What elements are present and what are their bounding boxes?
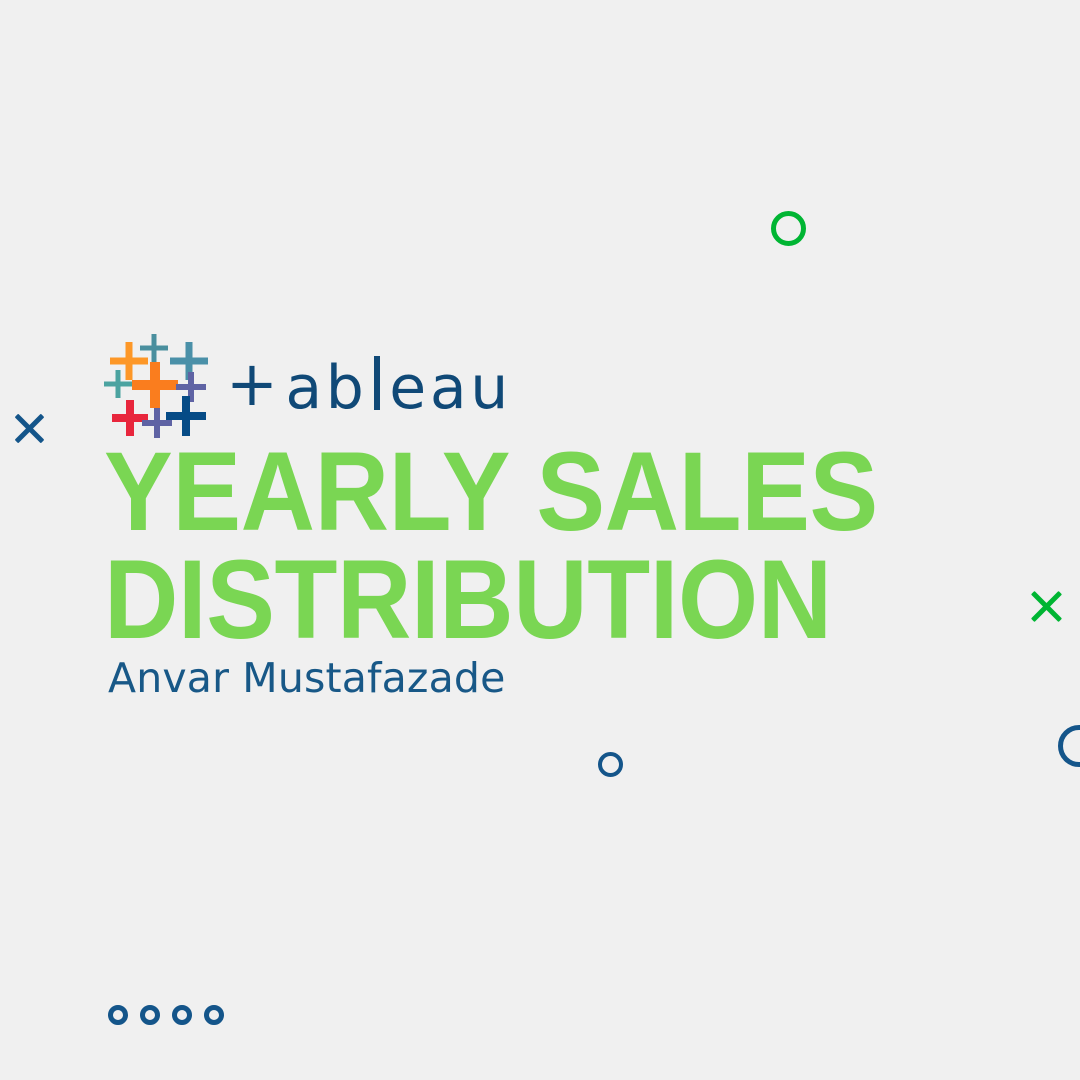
circle-outline-icon-green-top-right [771,211,806,246]
cross-teal-small-left-icon [104,370,132,398]
author-name: Anvar Mustafazade [108,658,505,699]
wordmark-letter-b: b [326,358,368,418]
cross-stroke-horizontal [142,420,172,426]
dot-row-bottom-left [108,1005,224,1025]
cross-stroke-horizontal [176,384,206,390]
circle-outline-icon-dot-1 [108,1005,128,1025]
cross-stroke-horizontal [166,412,206,420]
wordmark-plus-glyph: + [226,353,282,415]
tableau-logo-mark [104,334,208,438]
page-title-line-2: DISTRIBUTION [104,546,932,654]
circle-outline-icon-navy-center [598,752,623,777]
title-slide: +abeau YEARLY SALES DISTRIBUTION Anvar M… [0,0,1080,1080]
tableau-logo: +abeau [104,334,512,438]
page-title: YEARLY SALES DISTRIBUTION [104,438,1004,653]
circle-outline-icon-navy-right-edge [1058,725,1080,767]
wordmark-letter-u: u [470,358,512,418]
wordmark-letter-a2: a [430,358,470,418]
cross-stroke-horizontal [104,382,132,387]
wordmark-letter-e: e [389,358,430,418]
x-icon-navy-left [11,407,48,444]
x-icon-green-right [1027,584,1066,623]
page-title-line-1: YEARLY SALES [104,438,932,546]
circle-outline-icon-dot-3 [172,1005,192,1025]
circle-outline-icon-dot-2 [140,1005,160,1025]
wordmark-letter-a1: a [285,358,325,418]
cross-stroke-horizontal [132,380,178,390]
tableau-wordmark: +abeau [226,355,512,417]
wordmark-letter-l-bar [374,356,380,410]
circle-outline-icon-dot-4 [204,1005,224,1025]
